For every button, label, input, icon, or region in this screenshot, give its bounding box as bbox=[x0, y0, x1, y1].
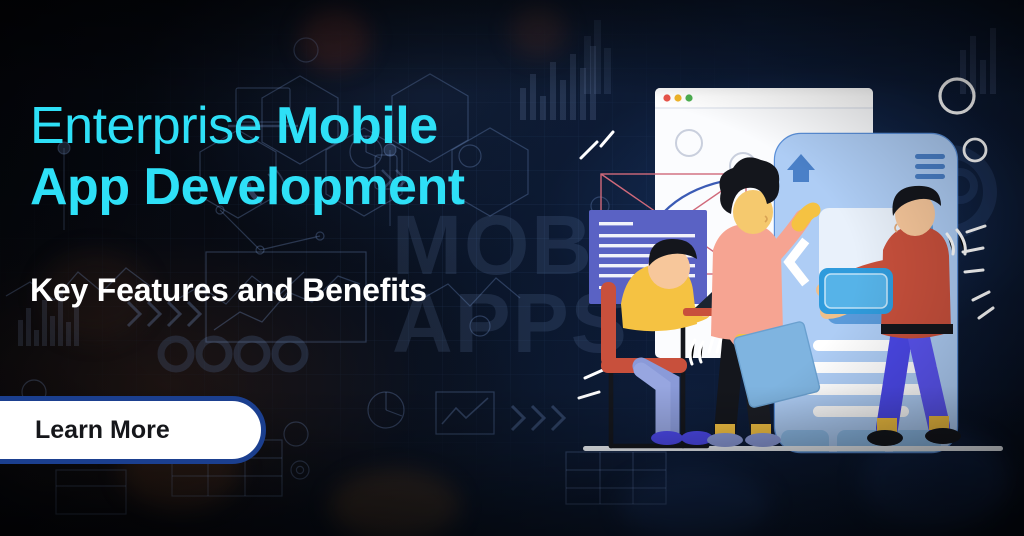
learn-more-button[interactable]: Learn More bbox=[0, 396, 266, 464]
headline-word-enterprise: Enterprise bbox=[30, 97, 276, 155]
learn-more-button-label: Learn More bbox=[35, 416, 170, 445]
headline-word-mobile: Mobile bbox=[276, 97, 438, 155]
headline-line-app-development: App Development bbox=[30, 158, 465, 216]
hero-banner: MOBILE APPS bbox=[0, 0, 1024, 536]
page-title: Enterprise Mobile App Development bbox=[30, 96, 590, 219]
subheadline: Key Features and Benefits bbox=[30, 272, 427, 309]
